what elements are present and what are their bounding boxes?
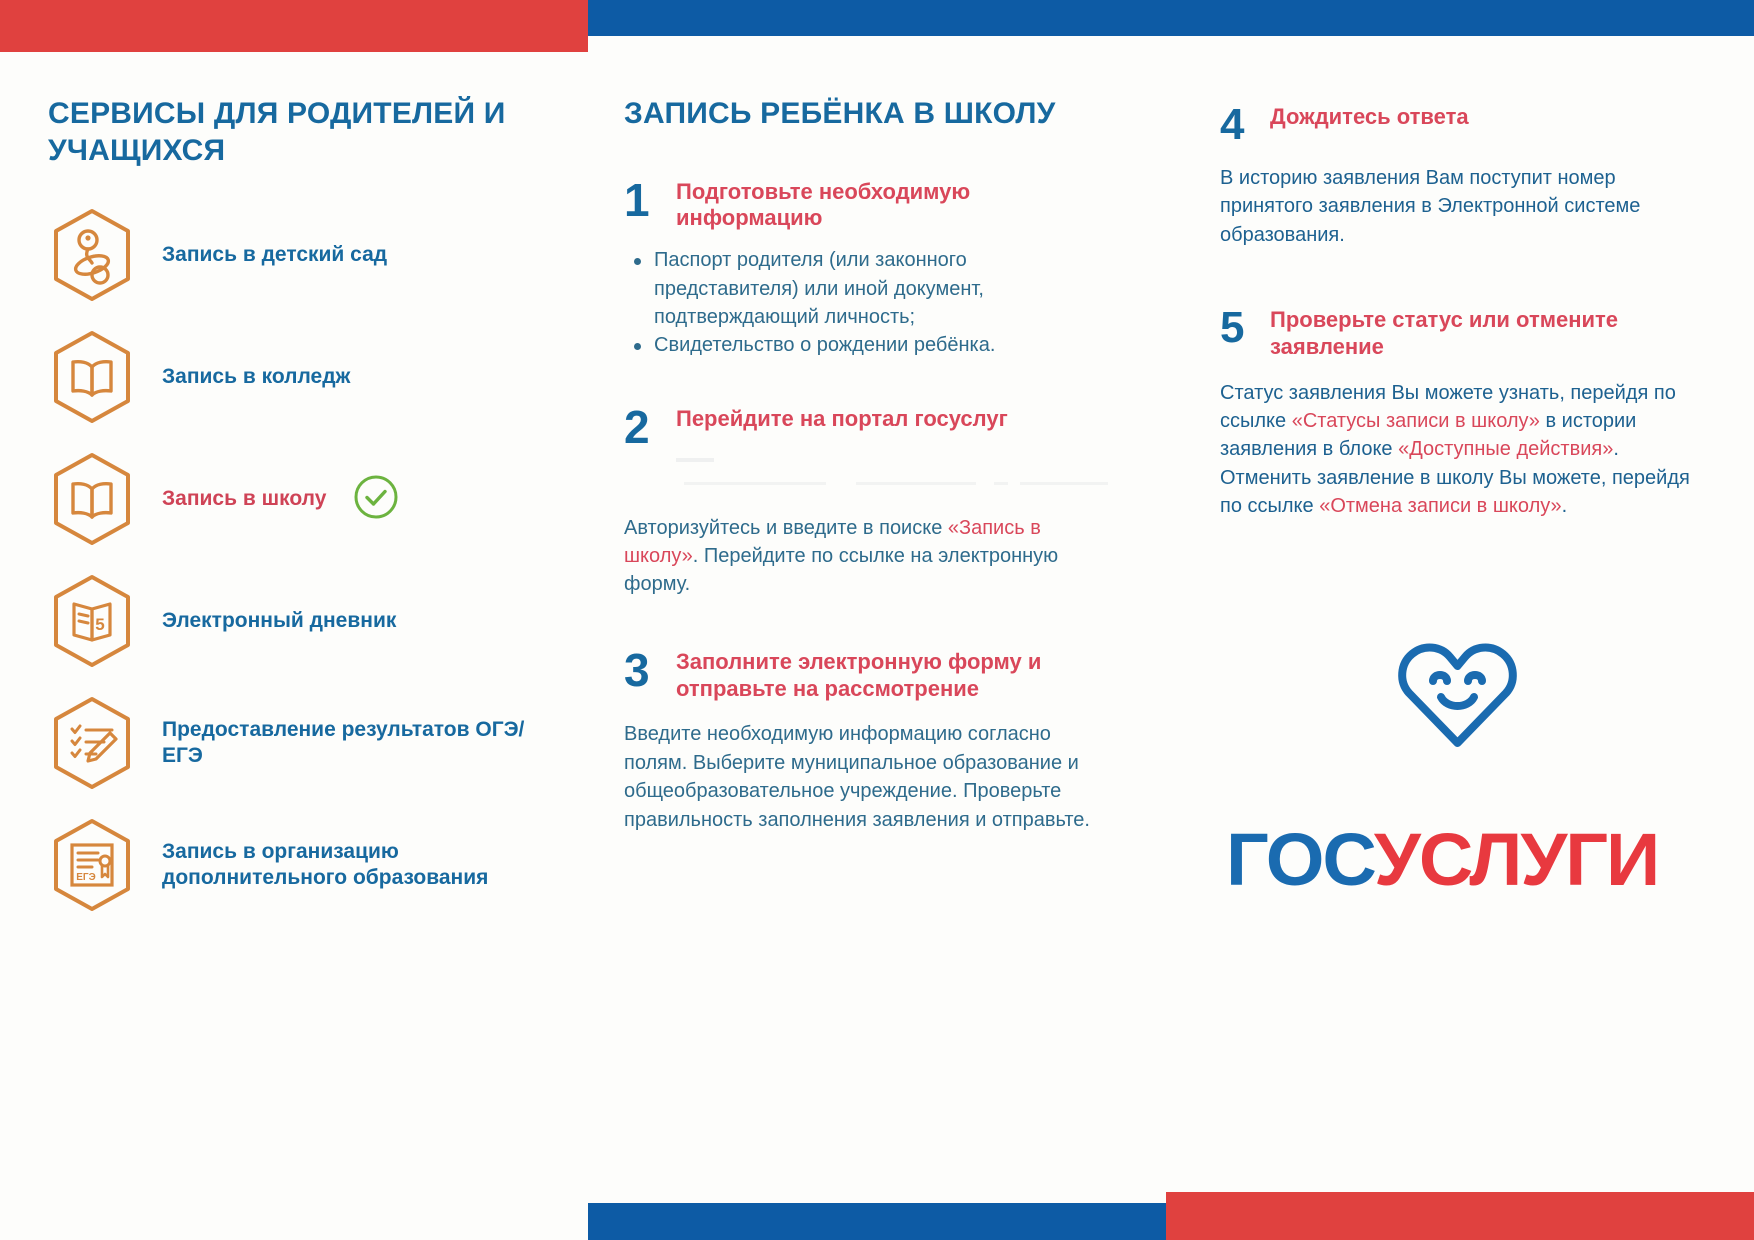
pacifier-icon: [48, 207, 136, 303]
service-label: Предоставление результатов ОГЭ/ЕГЭ: [162, 717, 548, 770]
paragraph: В историю заявления Вам поступит номер п…: [1220, 164, 1694, 249]
step-title: Дождитесь ответа: [1270, 100, 1469, 131]
svg-text:ЕГЭ: ЕГЭ: [76, 872, 95, 883]
step-header: 1 Подготовьте необходимую информацию: [624, 175, 1108, 233]
logo-part-uslugi: УСЛУГИ: [1374, 818, 1658, 901]
step-body: В историю заявления Вам поступит номер п…: [1220, 164, 1694, 249]
diary-grade-icon: 5: [48, 573, 136, 669]
text-run: Введите необходимую информацию согласно …: [624, 723, 1090, 830]
step-number: 4: [1220, 100, 1270, 146]
list-item[interactable]: 5 Электронный дневник: [48, 571, 548, 671]
paragraph: Статус заявления Вы можете узнать, перей…: [1220, 379, 1694, 521]
service-label: Запись в детский сад: [162, 242, 387, 268]
gosuslugi-branding: ГОСУСЛУГИ: [1220, 631, 1694, 897]
step-header: 5 Проверьте статус или отмените заявлени…: [1220, 303, 1694, 361]
step-body: Авторизуйтесь и введите в поиске «Запись…: [624, 514, 1108, 599]
step-body: Введите необходимую информацию согласно …: [624, 720, 1108, 834]
step-1: 1 Подготовьте необходимую информацию Пас…: [624, 175, 1108, 360]
services-title: СЕРВИСЫ ДЛЯ РОДИТЕЛЕЙ И УЧАЩИХСЯ: [48, 96, 548, 169]
paragraph: Авторизуйтесь и введите в поиске «Запись…: [624, 514, 1108, 599]
step-2: 2 Перейдите на портал госуслуг Авторизуй…: [624, 402, 1108, 599]
step-number: 2: [624, 402, 676, 450]
step-1-bullets: Паспорт родителя (или законного представ…: [624, 246, 1108, 360]
step-4: 4 Дождитесь ответа В историю заявления В…: [1220, 100, 1694, 249]
enrollment-title: ЗАПИСЬ РЕБЁНКА В ШКОЛУ: [624, 96, 1108, 133]
accent-phrase: «Отмена записи в школу»: [1319, 495, 1561, 517]
service-label: Запись в организацию дополнительного обр…: [162, 839, 548, 892]
check-circle-icon: [352, 473, 400, 526]
list-item[interactable]: Запись в колледж: [48, 327, 548, 427]
step-number: 3: [624, 645, 676, 693]
accent-phrase: «Статусы записи в школу»: [1292, 410, 1540, 432]
open-book-icon: [48, 329, 136, 425]
step-header: 2 Перейдите на портал госуслуг: [624, 402, 1108, 450]
step-number: 5: [1220, 303, 1270, 349]
services-list: Запись в детский сад Запись в колледж: [48, 205, 548, 915]
service-label: Запись в колледж: [162, 364, 350, 390]
list-item[interactable]: Запись в школу: [48, 449, 548, 549]
erased-portal-url: [676, 452, 1108, 496]
service-label: Электронный дневник: [162, 608, 396, 634]
text-run: Авторизуйтесь и введите в поиске: [624, 517, 948, 539]
step-number: 1: [624, 175, 676, 223]
status-steps-column: 4 Дождитесь ответа В историю заявления В…: [1166, 0, 1754, 1240]
step-5: 5 Проверьте статус или отмените заявлени…: [1220, 303, 1694, 521]
accent-phrase: «Доступные действия»: [1398, 438, 1613, 460]
gosuslugi-logo: ГОСУСЛУГИ: [1220, 823, 1694, 897]
svg-text:5: 5: [95, 615, 104, 634]
text-run: .: [1562, 495, 1568, 517]
step-3: 3 Заполните электронную форму и отправьт…: [624, 645, 1108, 834]
services-column: СЕРВИСЫ ДЛЯ РОДИТЕЛЕЙ И УЧАЩИХСЯ Запись …: [0, 0, 588, 1240]
certificate-ege-icon: ЕГЭ: [48, 817, 136, 913]
service-label: Запись в школу: [162, 486, 326, 512]
list-item[interactable]: ЕГЭ Запись в организацию дополнительного…: [48, 815, 548, 915]
step-title: Перейдите на портал госуслуг: [676, 402, 1008, 433]
step-header: 4 Дождитесь ответа: [1220, 100, 1694, 146]
logo-part-gos: ГОС: [1226, 818, 1374, 901]
step-title: Подготовьте необходимую информацию: [676, 175, 1108, 233]
enrollment-steps-column: ЗАПИСЬ РЕБЁНКА В ШКОЛУ 1 Подготовьте нео…: [588, 0, 1166, 1240]
list-item[interactable]: Запись в детский сад: [48, 205, 548, 305]
step-title: Заполните электронную форму и отправьте …: [676, 645, 1108, 703]
open-book-icon: [48, 451, 136, 547]
step-body: Статус заявления Вы можете узнать, перей…: [1220, 379, 1694, 521]
checklist-pencil-icon: [48, 695, 136, 791]
paragraph: Введите необходимую информацию согласно …: [624, 720, 1108, 834]
smiling-heart-icon: [1220, 631, 1694, 749]
list-item: Свидетельство о рождении ребёнка.: [624, 331, 1108, 359]
list-item: Паспорт родителя (или законного представ…: [624, 246, 1108, 331]
list-item[interactable]: Предоставление результатов ОГЭ/ЕГЭ: [48, 693, 548, 793]
step-title: Проверьте статус или отмените заявление: [1270, 303, 1694, 361]
text-run: В историю заявления Вам поступит номер п…: [1220, 167, 1640, 246]
step-header: 3 Заполните электронную форму и отправьт…: [624, 645, 1108, 703]
